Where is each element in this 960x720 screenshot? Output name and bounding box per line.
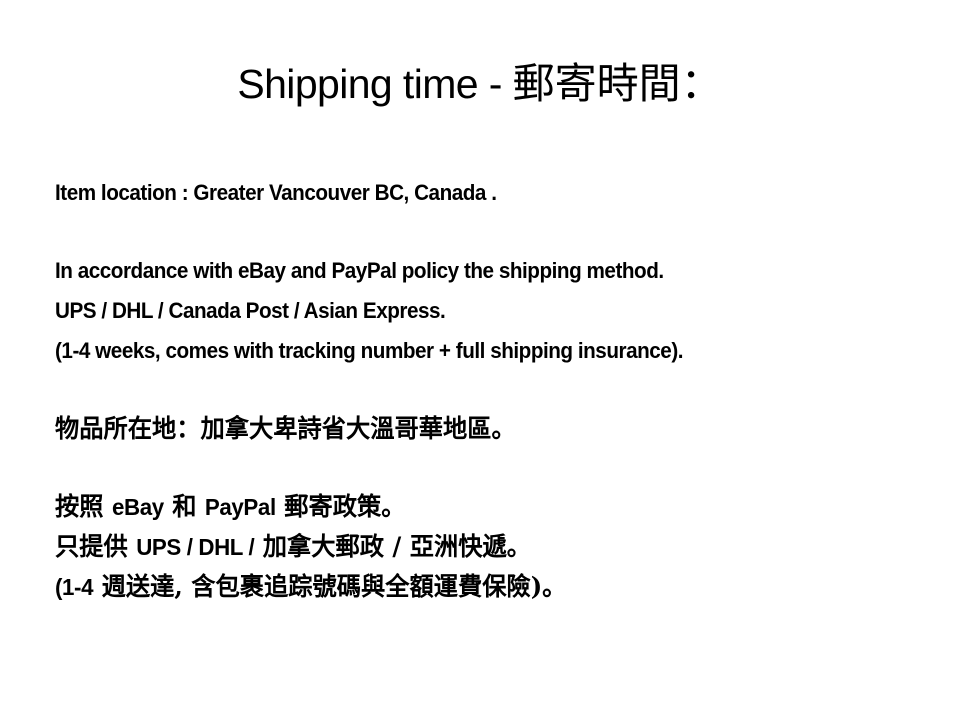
carriers-text: UPS / DHL / Canada Post / Asian Express. [55, 291, 445, 331]
policy-cjk-conjunction: 和 [164, 492, 205, 521]
carriers-cjk-brands: UPS / DHL / [136, 534, 254, 560]
delivery-note-text: (1-4 weeks, comes with tracking number +… [55, 331, 683, 371]
delivery-note-cjk-rest: 週送達, 含包裹追踪號碼與全額運費保險)。 [93, 572, 566, 601]
carriers-cjk-suffix: 加拿大郵政 / 亞洲快遞。 [254, 532, 531, 561]
policy-cjk-prefix: 按照 [55, 492, 112, 521]
blank-line-3 [55, 449, 915, 487]
line-shipping-policy-cjk: 按照 eBay 和 PayPal 郵寄政策。 [55, 487, 915, 527]
shipping-policy-text: In accordance with eBay and PayPal polic… [55, 251, 664, 291]
delivery-note-cjk-duration: (1-4 [55, 574, 93, 600]
shipping-policy-cjk-text: 按照 eBay 和 PayPal 郵寄政策。 [55, 487, 405, 527]
page-title: Shipping time - 郵寄時間： [0, 62, 960, 106]
policy-cjk-suffix: 郵寄政策。 [276, 492, 406, 521]
blank-line-1 [55, 213, 915, 251]
delivery-note-cjk-text: (1-4 週送達, 含包裹追踪號碼與全額運費保險)。 [55, 567, 566, 607]
line-item-location-cjk: 物品所在地：加拿大卑詩省大溫哥華地區。 [55, 409, 915, 449]
line-shipping-policy: In accordance with eBay and PayPal polic… [55, 251, 915, 291]
line-delivery-note: (1-4 weeks, comes with tracking number +… [55, 331, 915, 371]
carriers-cjk-prefix: 只提供 [55, 532, 136, 561]
item-location-cjk-text: 物品所在地：加拿大卑詩省大溫哥華地區。 [55, 409, 516, 449]
page-title-latin: Shipping time - [237, 61, 512, 107]
carriers-cjk-text: 只提供 UPS / DHL / 加拿大郵政 / 亞洲快遞。 [55, 527, 531, 567]
line-carriers: UPS / DHL / Canada Post / Asian Express. [55, 291, 915, 331]
line-delivery-note-cjk: (1-4 週送達, 含包裹追踪號碼與全額運費保險)。 [55, 567, 915, 607]
policy-cjk-brand-ebay: eBay [112, 494, 164, 520]
body-text-block: Item location : Greater Vancouver BC, Ca… [55, 173, 915, 607]
slide-canvas: Shipping time - 郵寄時間： Item location : Gr… [0, 0, 960, 720]
page-title-cjk: 郵寄時間： [513, 59, 723, 108]
line-item-location: Item location : Greater Vancouver BC, Ca… [55, 173, 915, 213]
policy-cjk-brand-paypal: PayPal [205, 494, 276, 520]
blank-line-2 [55, 371, 915, 409]
line-carriers-cjk: 只提供 UPS / DHL / 加拿大郵政 / 亞洲快遞。 [55, 527, 915, 567]
item-location-text: Item location : Greater Vancouver BC, Ca… [55, 173, 497, 213]
